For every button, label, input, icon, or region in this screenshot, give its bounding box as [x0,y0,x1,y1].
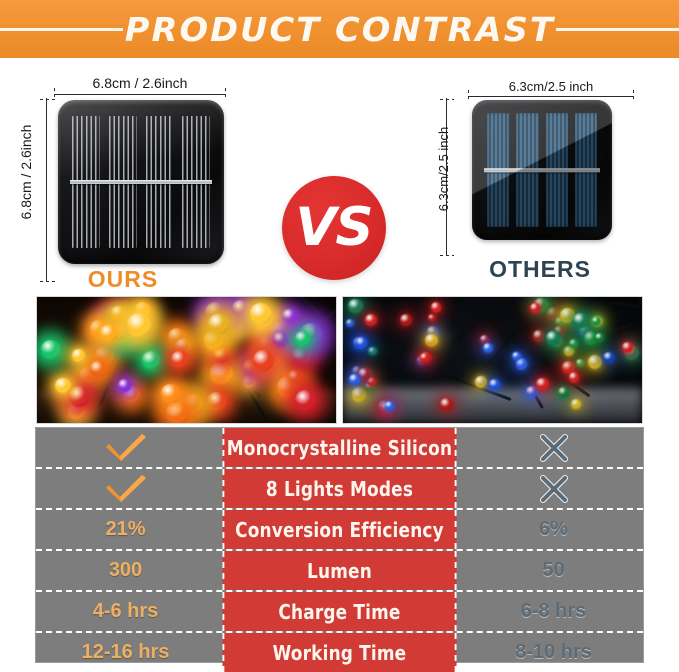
check-icon [104,474,148,504]
banner-rule-right [556,28,679,31]
others-value-cell [464,428,643,467]
vs-label: VS [295,201,372,254]
feature-label-cell: Charge Time [222,592,456,631]
light-bulb [512,352,520,360]
table-row: 21%Conversion Efficiency6% [36,510,643,551]
light-bulb [282,309,296,323]
others-string-lights-photo [342,296,643,424]
ours-height-label: 6.8cm / 2.6inch [18,125,34,220]
light-bulb [385,401,395,411]
light-bulb [55,378,70,393]
light-bulb [558,387,569,398]
ours-caption: OURS [8,266,238,293]
ours-width-tick-left [54,88,55,99]
ours-value-cell: 21% [36,510,215,549]
others-value-cell: 8-10 hrs [464,633,643,672]
light-bulb [171,351,188,368]
others-caption: OTHERS [430,256,650,283]
ours-width-tick-right [225,88,226,99]
header-banner: PRODUCT CONTRAST [0,0,679,58]
table-row: 300Lumen50 [36,551,643,592]
others-value-cell: 6% [464,510,643,549]
light-bulb [573,313,587,327]
ours-value-cell: 4-6 hrs [36,592,215,631]
feature-label-cell: Working Time [222,633,456,672]
ours-width-line [54,94,226,95]
others-width-label: 6.3cm/2.5 inch [509,79,594,94]
light-bulb [420,353,429,362]
cross-icon [539,474,569,504]
ours-string-lights-photo [36,296,337,424]
ours-panel-group: 6.8cm / 2.6inch 6.8cm / 2.6inch OURS [8,66,238,288]
feature-label-cell: Conversion Efficiency [222,510,456,549]
light-wire [609,301,643,314]
ours-solar-panel [58,100,224,264]
vs-badge: VS [282,176,386,280]
others-value-cell [464,469,643,508]
cross-icon [539,433,569,463]
ours-busbar [70,180,212,184]
others-width-line [468,96,634,97]
table-row: Monocrystalline Silicon [36,428,643,469]
others-busbar [484,168,600,172]
ours-height-dimension: 6.8cm / 2.6inch [18,97,38,247]
ours-width-dimension: 6.8cm / 2.6inch [54,72,226,94]
page-title: PRODUCT CONTRAST [118,10,560,49]
ours-width-label: 6.8cm / 2.6inch [93,75,188,91]
feature-label-cell: 8 Lights Modes [222,469,456,508]
light-bulb [425,334,438,347]
others-solar-panel [472,100,612,240]
others-height-dimension: 6.3cm/2.5 inch [435,99,453,239]
ours-value-cell [36,469,215,508]
light-bulb [546,331,560,345]
ours-value-cell: 300 [36,551,215,590]
light-bulb [483,343,493,353]
comparison-table: Monocrystalline Silicon8 Lights Modes21%… [36,428,643,662]
light-bulb [365,314,377,326]
ours-height-line [46,98,47,282]
others-value-cell: 50 [464,551,643,590]
others-value-cell: 6-8 hrs [464,592,643,631]
others-height-label: 6.3cm/2.5 inch [436,127,451,212]
light-bulb [72,349,85,362]
panel-comparison-section: 6.8cm / 2.6inch 6.8cm / 2.6inch OURS VS [0,58,679,290]
light-bulb [161,384,179,402]
table-row: 4-6 hrsCharge Time6-8 hrs [36,592,643,633]
others-width-tick-left [468,90,469,101]
table-row: 12-16 hrsWorking Time8-10 hrs [36,633,643,672]
others-width-tick-right [633,90,634,101]
light-bulb [100,325,117,342]
ours-value-cell [36,428,215,467]
product-photos [36,296,643,424]
light-bulb [127,313,151,337]
others-width-dimension: 6.3cm/2.5 inch [468,76,634,96]
feature-label-cell: Monocrystalline Silicon [222,428,456,467]
light-bulb [603,352,614,363]
light-bulb [536,378,548,390]
others-panel-group: 6.3cm/2.5 inch 6.3cm/2.5 inch OTHERS [430,76,650,288]
ours-height-tick-top [40,99,56,100]
check-icon [104,433,148,463]
light-bulb [431,302,442,313]
light-bulb [295,331,310,346]
light-bulb [595,333,604,342]
feature-label-cell: Lumen [222,551,456,590]
banner-rule-left [0,28,123,31]
light-bulb [142,351,160,369]
light-bulb [295,390,316,411]
ours-value-cell: 12-16 hrs [36,633,215,672]
light-bulb [569,372,579,382]
table-row: 8 Lights Modes [36,469,643,510]
